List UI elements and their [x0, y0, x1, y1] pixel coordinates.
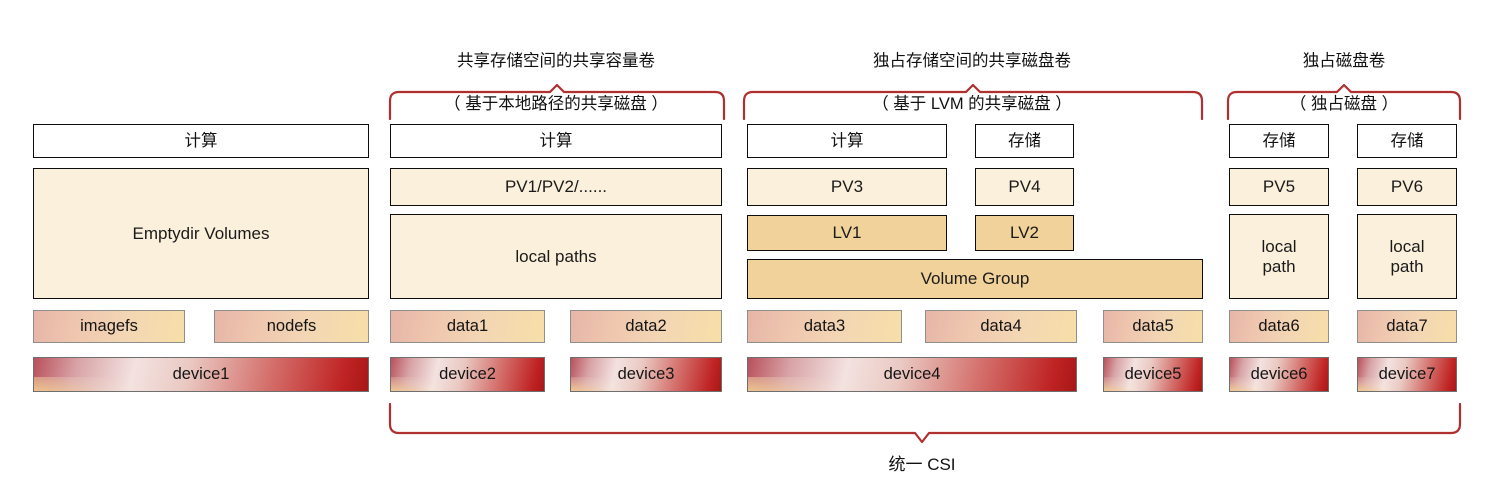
- col3-device-device4: device4: [747, 357, 1077, 392]
- col3-header-storage: 存储: [975, 124, 1074, 158]
- unified-csi-label: 统一 CSI: [722, 450, 1122, 475]
- col1-data-nodefs: nodefs: [214, 310, 369, 343]
- group-caption-line1: 独占存储空间的共享磁盘卷: [742, 51, 1202, 72]
- col4-local-path-right: local path: [1357, 214, 1457, 299]
- col2-header-compute: 计算: [390, 124, 722, 158]
- col2-data-data2: data2: [570, 310, 722, 343]
- group-caption-line1: 共享存储空间的共享容量卷: [396, 51, 716, 72]
- group-caption-exclusive-shared-disk: 独占存储空间的共享磁盘卷 （ 基于 LVM 的共享磁盘 ）: [742, 30, 1202, 137]
- col2-pv-list: PV1/PV2/......: [390, 168, 722, 206]
- col3-lv1: LV1: [747, 215, 947, 251]
- col3-data-data3: data3: [747, 310, 902, 343]
- col2-device-device3: device3: [570, 357, 722, 392]
- col3-data-data4: data4: [925, 310, 1077, 343]
- col3-pv4: PV4: [975, 168, 1074, 206]
- col4-pv5: PV5: [1229, 168, 1329, 206]
- col4-header-storage-right: 存储: [1357, 124, 1457, 158]
- group-caption-exclusive-disk: 独占磁盘卷 （ 独占磁盘 ）: [1228, 30, 1460, 137]
- col1-emptydir-volumes: Emptydir Volumes: [33, 168, 369, 299]
- col3-header-compute: 计算: [747, 124, 947, 158]
- col2-device-device2: device2: [390, 357, 545, 392]
- col4-header-storage-left: 存储: [1229, 124, 1329, 158]
- col4-local-path-left: local path: [1229, 214, 1329, 299]
- col4-data-data6: data6: [1229, 310, 1329, 343]
- col4-data-data7: data7: [1357, 310, 1457, 343]
- col3-lv2: LV2: [975, 215, 1074, 251]
- group-caption-line1: 独占磁盘卷: [1228, 51, 1460, 72]
- col1-data-imagefs: imagefs: [33, 310, 185, 343]
- col4-device-device7: device7: [1357, 357, 1457, 392]
- col1-device-device1: device1: [33, 357, 369, 392]
- col4-device-device6: device6: [1229, 357, 1329, 392]
- bracket-exclusive-disk: [1226, 88, 1462, 120]
- bracket-exclusive-shared-disk: [742, 88, 1204, 120]
- col2-local-paths: local paths: [390, 214, 722, 299]
- bracket-shared-capacity: [388, 88, 726, 120]
- col3-data-data5: data5: [1103, 310, 1203, 343]
- col1-header-compute: 计算: [33, 124, 369, 158]
- bracket-unified-csi: [388, 404, 1462, 442]
- col2-data-data1: data1: [390, 310, 545, 343]
- diagram-canvas: 共享存储空间的共享容量卷 （ 基于本地路径的共享磁盘 ） 独占存储空间的共享磁盘…: [0, 0, 1498, 492]
- col3-volume-group: Volume Group: [747, 259, 1203, 299]
- col3-device-device5: device5: [1103, 357, 1203, 392]
- col3-pv3: PV3: [747, 168, 947, 206]
- col4-pv6: PV6: [1357, 168, 1457, 206]
- group-caption-shared-capacity: 共享存储空间的共享容量卷 （ 基于本地路径的共享磁盘 ）: [396, 30, 716, 137]
